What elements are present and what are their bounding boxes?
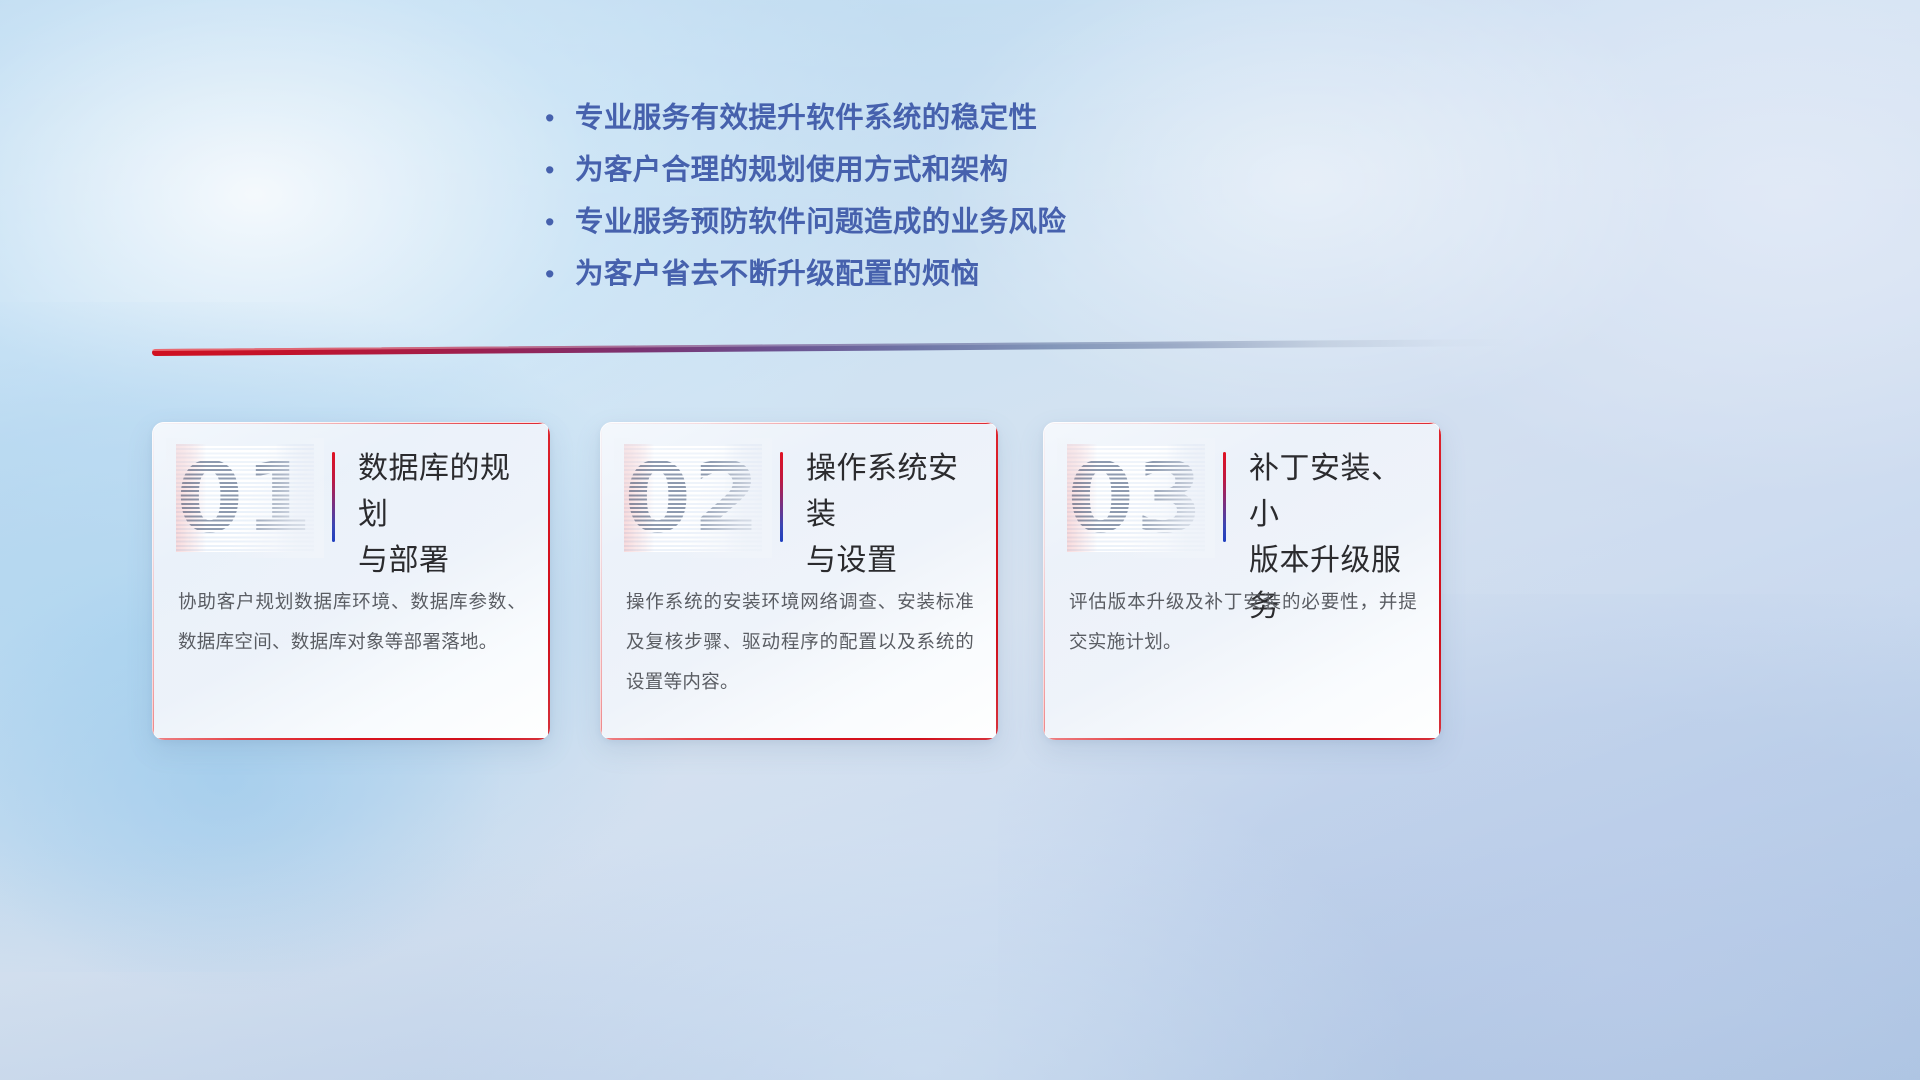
card-title-01: 数据库的规划与部署 — [358, 446, 534, 584]
card-header: 01 数据库的规划与部署 — [152, 422, 550, 570]
bullet-marker-icon: • — [541, 144, 575, 196]
card-header: 03 补丁安装、小版本升级服务 — [1043, 422, 1441, 570]
bullet-item-4: • 为客户省去不断升级配置的烦恼 — [541, 248, 1241, 300]
card-body-01: 协助客户规划数据库环境、数据库参数、数据库空间、数据库对象等部署落地。 — [178, 582, 526, 662]
card-number-graphic: 01 — [176, 444, 314, 552]
bullet-marker-icon: • — [541, 196, 575, 248]
card-number-02: 02 — [624, 444, 762, 552]
card-row: 01 数据库的规划与部署 协助客户规划数据库环境、数据库参数、数据库空间、数据库… — [152, 422, 1572, 744]
bullet-text-4: 为客户省去不断升级配置的烦恼 — [575, 248, 980, 300]
card-title-02: 操作系统安装与设置 — [806, 446, 982, 584]
card-header: 02 操作系统安装与设置 — [600, 422, 998, 570]
card-02[interactable]: 02 操作系统安装与设置 操作系统的安装环境网络调查、安装标准及复核步骤、驱动程… — [600, 422, 998, 740]
bullet-item-3: • 专业服务预防软件问题造成的业务风险 — [541, 196, 1241, 248]
card-body-03: 评估版本升级及补丁安装的必要性，并提交实施计划。 — [1069, 582, 1417, 662]
card-title-divider-bar — [332, 452, 335, 542]
card-body-02: 操作系统的安装环境网络调查、安装标准及复核步骤、驱动程序的配置以及系统的设置等内… — [626, 582, 974, 702]
bullet-list: • 专业服务有效提升软件系统的稳定性 • 为客户合理的规划使用方式和架构 • 专… — [541, 92, 1241, 300]
bullet-marker-icon: • — [541, 92, 575, 144]
card-number-graphic: 03 — [1067, 444, 1205, 552]
card-title-divider-bar — [780, 452, 783, 542]
card-number-01: 01 — [176, 444, 314, 552]
bullet-text-3: 专业服务预防软件问题造成的业务风险 — [575, 196, 1066, 248]
card-03[interactable]: 03 补丁安装、小版本升级服务 评估版本升级及补丁安装的必要性，并提交实施计划。 — [1043, 422, 1441, 740]
bullet-text-2: 为客户合理的规划使用方式和架构 — [575, 144, 1009, 196]
card-title-divider-bar — [1223, 452, 1226, 542]
card-01[interactable]: 01 数据库的规划与部署 协助客户规划数据库环境、数据库参数、数据库空间、数据库… — [152, 422, 550, 740]
bullet-item-2: • 为客户合理的规划使用方式和架构 — [541, 144, 1241, 196]
bullet-item-1: • 专业服务有效提升软件系统的稳定性 — [541, 92, 1241, 144]
bullet-text-1: 专业服务有效提升软件系统的稳定性 — [575, 92, 1037, 144]
card-number-graphic: 02 — [624, 444, 762, 552]
card-number-03: 03 — [1067, 444, 1205, 552]
bullet-marker-icon: • — [541, 248, 575, 300]
